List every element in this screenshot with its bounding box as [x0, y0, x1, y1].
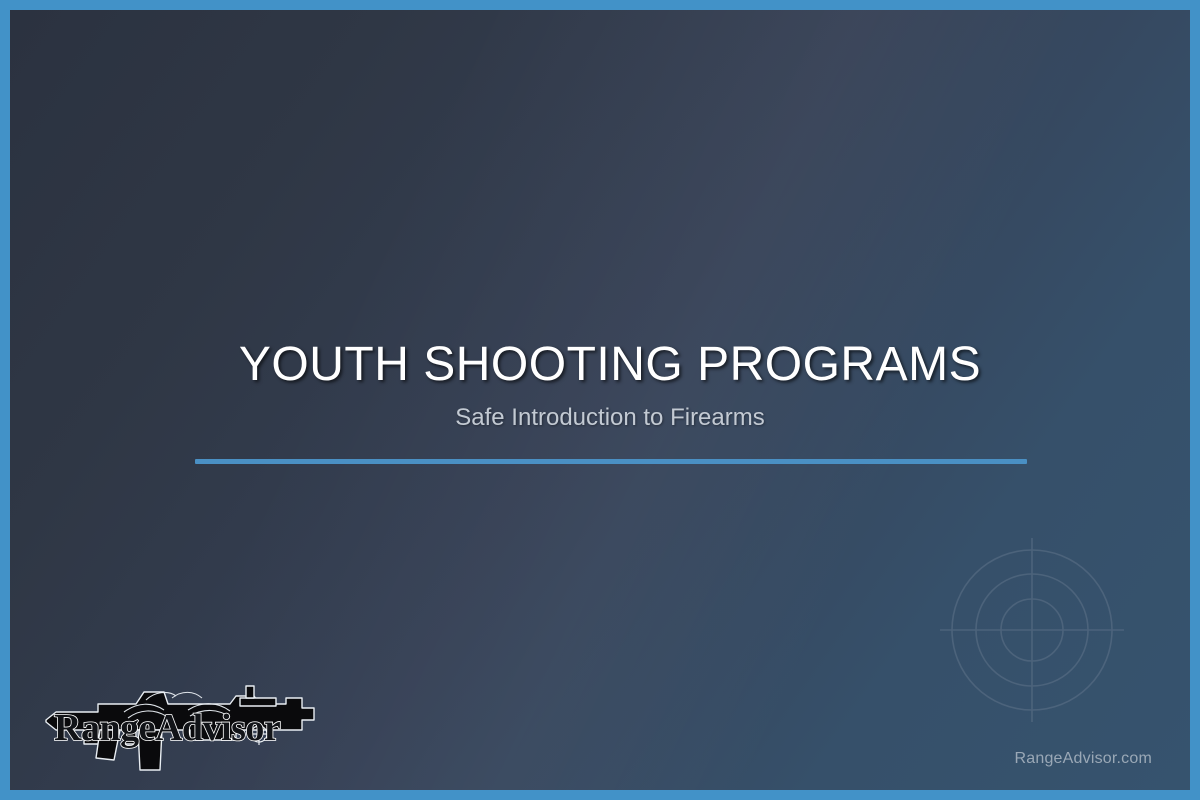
rifle-logo-icon[interactable]: RangeAdvisor [40, 678, 320, 778]
page-title: YOUTH SHOOTING PROGRAMS [110, 340, 1110, 390]
title-slide: YOUTH SHOOTING PROGRAMS Safe Introductio… [0, 0, 1200, 800]
title-block: YOUTH SHOOTING PROGRAMS Safe Introductio… [110, 340, 1110, 433]
page-subtitle: Safe Introduction to Firearms [110, 404, 1110, 433]
footer-url: RangeAdvisor.com [1015, 750, 1153, 768]
title-divider [195, 459, 1027, 464]
logo-wordmark: RangeAdvisor [54, 707, 281, 749]
crosshair-target-icon [932, 530, 1132, 730]
